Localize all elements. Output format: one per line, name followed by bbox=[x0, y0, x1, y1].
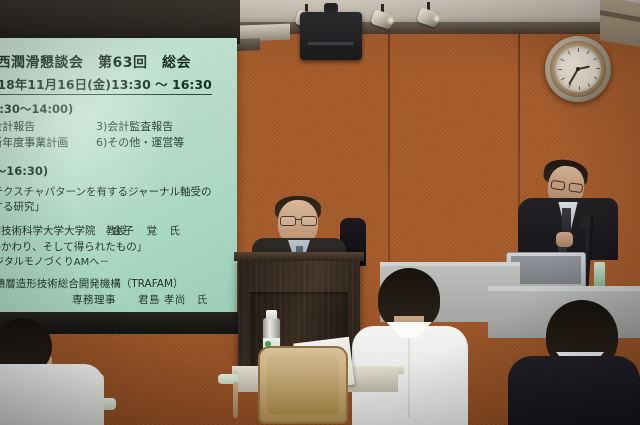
slide-topic-line-1: 「テクスチャパターンを有するジャーナル軸受の bbox=[0, 184, 212, 199]
slide-agenda-item: 6)その他・運営等 bbox=[96, 134, 184, 150]
slide-section-2: ( ～16:30) bbox=[0, 163, 48, 179]
clock-center-pin bbox=[576, 67, 580, 71]
ceiling-speaker bbox=[300, 12, 362, 60]
slide-title: 関西潤滑懇談会 第63回 総会 bbox=[0, 52, 191, 72]
slide-agenda-item: 3)会計監査報告 bbox=[96, 118, 173, 134]
wall-clock bbox=[545, 36, 611, 102]
slide-date-line: 2018年11月16日(金)13:30 ～ 16:30 bbox=[0, 74, 212, 95]
slide-speaker-2: 専務理事 君島 孝尚 氏 bbox=[72, 292, 208, 307]
speaker-slot bbox=[308, 42, 354, 45]
clock-face bbox=[555, 46, 601, 92]
slide-agenda-item: 4)新年度事業計画 bbox=[0, 134, 68, 150]
speaker-mount bbox=[324, 3, 338, 13]
slide-topic-line-3: 「かかわり、そして得られたもの」 bbox=[0, 239, 147, 254]
laptop-screen bbox=[511, 256, 581, 284]
mic-speaker-hand bbox=[556, 232, 573, 247]
slide-agenda-item: 1)会計報告 bbox=[0, 118, 35, 134]
projected-slide: 関西潤滑懇談会 第63回 総会 2018年11月16日(金)13:30 ～ 16… bbox=[0, 38, 237, 316]
green-bottle bbox=[594, 262, 605, 288]
slide-speaker-name: 金子 覚 氏 bbox=[112, 223, 181, 238]
audience-foreground-torso bbox=[0, 364, 104, 425]
ceiling-duct bbox=[600, 0, 640, 48]
bottle-cap bbox=[266, 310, 277, 319]
projection-screen: 関西潤滑懇談会 第63回 総会 2018年11月16日(金)13:30 ～ 16… bbox=[0, 38, 237, 316]
slide-speaker-affiliation: 長岡技術科学大学大学院 教授 bbox=[0, 223, 127, 238]
slide-topic-line-2: する研究」 bbox=[0, 199, 45, 214]
glasses-icon bbox=[280, 216, 317, 224]
lecture-room-photo: 関西潤滑懇談会 第63回 総会 2018年11月16日(金)13:30 ～ 16… bbox=[0, 0, 640, 425]
slide-topic-line-4: デジタルモノづくりAMへ－ bbox=[0, 253, 109, 268]
audience-dark-suit-torso bbox=[508, 356, 640, 425]
slide-organization: 3D積層造形技術総合開発機構（TRAFAM） bbox=[0, 276, 184, 291]
chair-backrest bbox=[258, 346, 348, 424]
shirt-seam bbox=[408, 338, 410, 418]
slide-section-1: (13:30～14:00) bbox=[0, 101, 73, 117]
